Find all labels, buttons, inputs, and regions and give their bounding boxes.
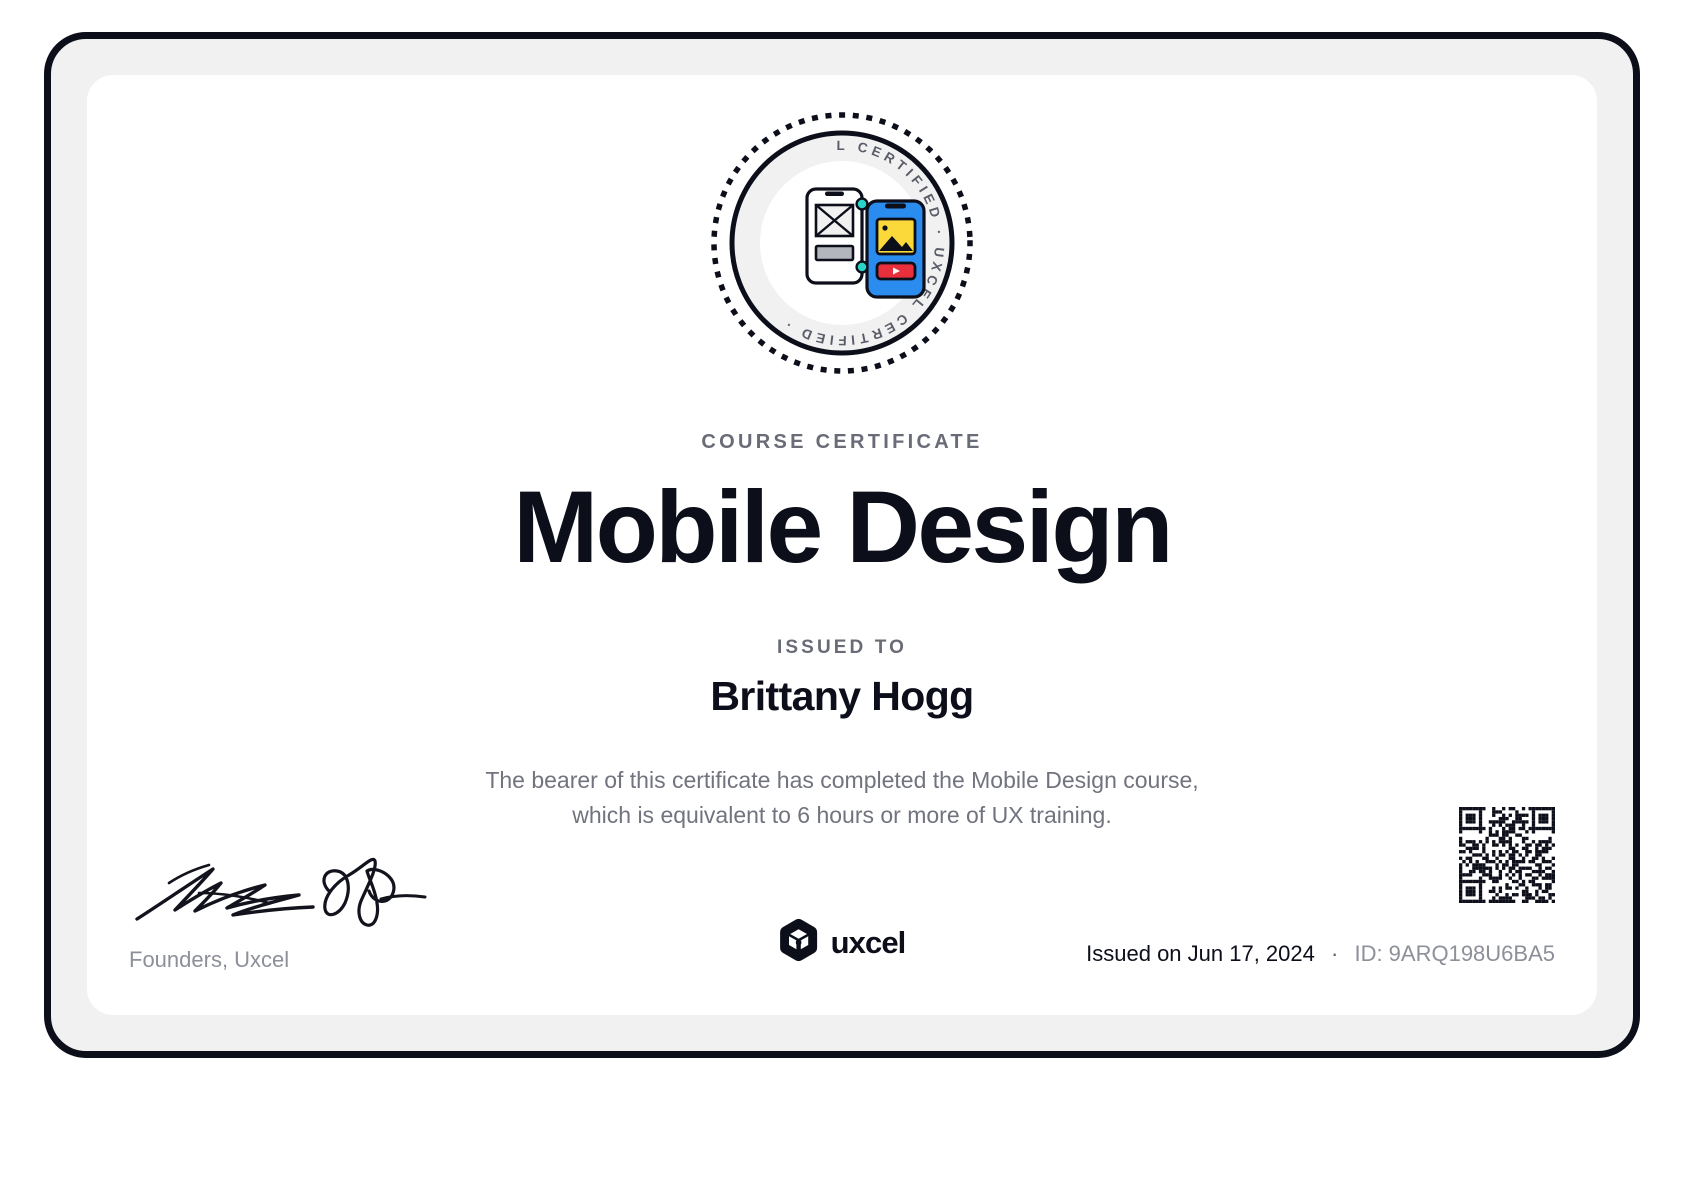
recipient-name: Brittany Hogg	[87, 673, 1597, 720]
signature-images	[129, 853, 459, 933]
connector-handle-top	[857, 199, 868, 210]
signature-block: Founders, Uxcel	[129, 853, 459, 973]
connector-handle-bottom	[857, 262, 868, 273]
certificate-card: UXCEL CERTIFIED · UXCEL CERTIFIED ·	[87, 75, 1597, 1015]
signature-one	[137, 865, 313, 919]
course-certificate-kicker: COURSE CERTIFICATE	[87, 431, 1597, 454]
description-line-1: The bearer of this certificate has compl…	[87, 763, 1597, 798]
certificate-id: ID: 9ARQ198U6BA5	[1354, 941, 1555, 966]
issued-to-label: ISSUED TO	[87, 637, 1597, 659]
uxcel-logo: uxcel	[779, 918, 906, 967]
wireframe-phone	[807, 189, 862, 283]
qr-code	[1459, 807, 1555, 903]
certificate-frame: UXCEL CERTIFIED · UXCEL CERTIFIED ·	[44, 32, 1640, 1058]
certificate-footer: Founders, Uxcel uxcel	[87, 805, 1597, 1015]
mobile-design-badge-icon	[807, 189, 924, 297]
signature-two	[324, 859, 425, 925]
uxcel-hexagon-icon	[779, 918, 819, 967]
page-title: Mobile Design	[87, 467, 1597, 587]
issuance-block: Issued on Jun 17, 2024 · ID: 9ARQ198U6BA…	[1086, 941, 1555, 967]
uxcel-certified-badge: UXCEL CERTIFIED · UXCEL CERTIFIED ·	[706, 107, 978, 379]
blue-phone	[867, 201, 924, 297]
issued-on-date: Issued on Jun 17, 2024	[1086, 941, 1315, 966]
issuance-separator: ·	[1321, 941, 1348, 966]
uxcel-wordmark: uxcel	[831, 925, 906, 961]
founders-label: Founders, Uxcel	[129, 947, 459, 973]
